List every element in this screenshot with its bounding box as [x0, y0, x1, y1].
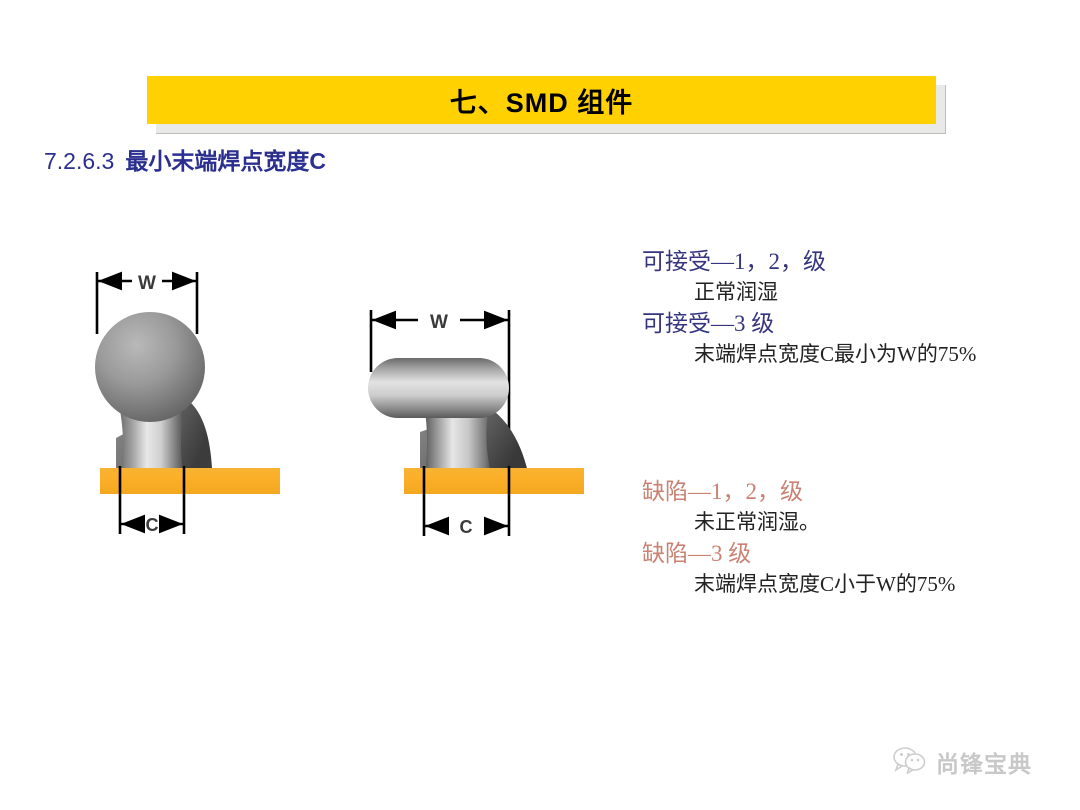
figure-ball-solder-joint: W C	[80, 262, 310, 547]
accept-class12-heading: 可接受—1，2，级	[642, 246, 976, 277]
w-dimension-label: W	[138, 273, 156, 294]
accept-class3-description: 末端焊点宽度C最小为W的75%	[642, 339, 976, 370]
defect-class12-description: 未正常润湿。	[642, 507, 955, 538]
acceptance-criteria-block: 可接受—1，2，级 正常润湿 可接受—3 级 末端焊点宽度C最小为W的75%	[642, 246, 976, 370]
figure-capsule-solder-joint: W C	[362, 300, 607, 548]
title-banner: 七、SMD 组件	[147, 76, 936, 124]
pcb-pad	[100, 468, 280, 494]
capsule-joint-drawing: W C	[362, 300, 607, 548]
ball-joint-drawing: W C	[80, 262, 310, 547]
section-number: 7.2.6.3	[44, 148, 114, 174]
accept-class12-description: 正常润湿	[642, 277, 976, 308]
watermark-text: 尚锋宝典	[936, 745, 1032, 779]
defect-class12-heading: 缺陷—1，2，级	[642, 476, 955, 507]
title-banner-body: 七、SMD 组件	[147, 76, 936, 124]
defect-class3-description: 末端焊点宽度C小于W的75%	[642, 569, 955, 600]
defect-criteria-block: 缺陷—1，2，级 未正常润湿。 缺陷—3 级 末端焊点宽度C小于W的75%	[642, 476, 955, 600]
w-dimension-label: W	[430, 312, 448, 333]
c-dimension-label: C	[460, 517, 473, 537]
page-title: 七、SMD 组件	[450, 81, 634, 120]
defect-class3-heading: 缺陷—3 级	[642, 538, 955, 569]
section-subtitle-text: 最小末端焊点宽度C	[125, 148, 326, 174]
wechat-icon	[893, 746, 927, 779]
watermark: 尚锋宝典	[893, 745, 1032, 779]
pcb-pad	[404, 468, 584, 494]
accept-class3-heading: 可接受—3 级	[642, 308, 976, 339]
c-dimension-label: C	[146, 515, 159, 535]
slide-canvas: 七、SMD 组件 7.2.6.3最小末端焊点宽度C	[0, 0, 1080, 810]
section-subtitle: 7.2.6.3最小末端焊点宽度C	[44, 142, 326, 176]
solder-ball	[95, 312, 205, 422]
capsule-lead	[368, 358, 509, 418]
